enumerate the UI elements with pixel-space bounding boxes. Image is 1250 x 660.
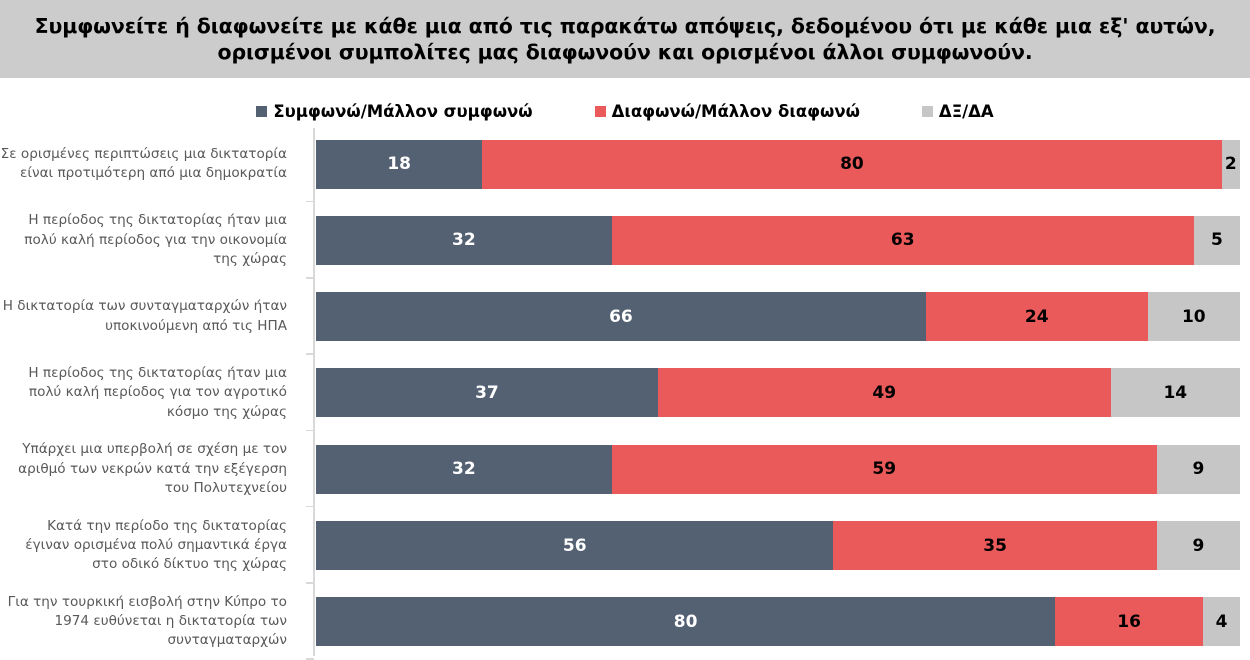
bar-segment-agree[interactable]: 56 bbox=[316, 521, 833, 570]
bar-segment-agree[interactable]: 37 bbox=[316, 368, 658, 417]
legend-label-agree: Συμφωνώ/Μάλλον συμφωνώ bbox=[273, 102, 532, 121]
bar-segment-dontknow[interactable]: 4 bbox=[1203, 597, 1240, 646]
legend-swatch-disagree-icon bbox=[595, 106, 606, 117]
bar-segment-agree[interactable]: 18 bbox=[316, 140, 482, 189]
bar-segment-dontknow[interactable]: 14 bbox=[1111, 368, 1240, 417]
page-title: Συμφωνείτε ή διαφωνείτε με κάθε μια από … bbox=[20, 13, 1230, 65]
category-label: Σε ορισμένες περιπτώσεις μια δικτατορία … bbox=[0, 145, 300, 184]
bar-segment-dontknow[interactable]: 9 bbox=[1157, 445, 1240, 494]
stacked-bar: 374914 bbox=[316, 368, 1240, 417]
legend-label-disagree: Διαφωνώ/Μάλλον διαφωνώ bbox=[612, 102, 860, 121]
bar-segment-disagree[interactable]: 16 bbox=[1055, 597, 1203, 646]
category-label: Κατά την περίοδο της δικτατορίας έγιναν … bbox=[0, 517, 300, 575]
stacked-bar: 32599 bbox=[316, 445, 1240, 494]
bar-segment-disagree[interactable]: 35 bbox=[833, 521, 1156, 570]
stacked-bar: 32635 bbox=[316, 216, 1240, 265]
legend-swatch-agree-icon bbox=[256, 106, 267, 117]
legend-item-disagree[interactable]: Διαφωνώ/Μάλλον διαφωνώ bbox=[595, 102, 860, 121]
bar-segment-agree[interactable]: 66 bbox=[316, 292, 926, 341]
bar-segment-agree[interactable]: 32 bbox=[316, 216, 612, 265]
bar-segment-dontknow[interactable]: 9 bbox=[1157, 521, 1240, 570]
bar-segment-disagree[interactable]: 49 bbox=[658, 368, 1111, 417]
chart-row: Η περίοδος της δικτατορίας ήταν μια πολύ… bbox=[0, 202, 1250, 278]
stacked-bar: 18802 bbox=[316, 140, 1240, 189]
legend-label-dontknow: ΔΞ/ΔΑ bbox=[939, 102, 994, 121]
stacked-bar: 662410 bbox=[316, 292, 1240, 341]
bar-segment-disagree[interactable]: 63 bbox=[612, 216, 1194, 265]
bar-segment-disagree[interactable]: 80 bbox=[482, 140, 1221, 189]
category-label: Για την τουρκική εισβολή στην Κύπρο το 1… bbox=[0, 593, 300, 651]
category-label: Υπάρχει μια υπερβολή σε σχέση με τον αρι… bbox=[0, 440, 300, 498]
chart-title-band: Συμφωνείτε ή διαφωνείτε με κάθε μια από … bbox=[0, 0, 1250, 78]
plot-area: Σε ορισμένες περιπτώσεις μια δικτατορία … bbox=[0, 126, 1250, 660]
bar-segment-disagree[interactable]: 24 bbox=[926, 292, 1148, 341]
stacked-bar-chart: Συμφωνείτε ή διαφωνείτε με κάθε μια από … bbox=[0, 0, 1250, 660]
legend-item-agree[interactable]: Συμφωνώ/Μάλλον συμφωνώ bbox=[256, 102, 532, 121]
legend-item-dontknow[interactable]: ΔΞ/ΔΑ bbox=[922, 102, 994, 121]
bar-segment-dontknow[interactable]: 5 bbox=[1194, 216, 1240, 265]
chart-row: Σε ορισμένες περιπτώσεις μια δικτατορία … bbox=[0, 126, 1250, 202]
category-label: Η περίοδος της δικτατορίας ήταν μια πολύ… bbox=[0, 211, 300, 269]
chart-row: Υπάρχει μια υπερβολή σε σχέση με τον αρι… bbox=[0, 431, 1250, 507]
chart-row: Κατά την περίοδο της δικτατορίας έγιναν … bbox=[0, 507, 1250, 583]
stacked-bar: 80164 bbox=[316, 597, 1240, 646]
bar-segment-dontknow[interactable]: 10 bbox=[1148, 292, 1240, 341]
legend-swatch-dontknow-icon bbox=[922, 106, 933, 117]
stacked-bar: 56359 bbox=[316, 521, 1240, 570]
bar-segment-agree[interactable]: 80 bbox=[316, 597, 1055, 646]
chart-row: Η περίοδος της δικτατορίας ήταν μια πολύ… bbox=[0, 355, 1250, 431]
bar-rows: Σε ορισμένες περιπτώσεις μια δικτατορία … bbox=[0, 126, 1250, 660]
chart-legend: Συμφωνώ/Μάλλον συμφωνώ Διαφωνώ/Μάλλον δι… bbox=[0, 96, 1250, 126]
bar-segment-disagree[interactable]: 59 bbox=[612, 445, 1157, 494]
chart-row: Η δικτατορία των συνταγματαρχών ήταν υπο… bbox=[0, 279, 1250, 355]
chart-row: Για την τουρκική εισβολή στην Κύπρο το 1… bbox=[0, 584, 1250, 660]
category-label: Η περίοδος της δικτατορίας ήταν μια πολύ… bbox=[0, 364, 300, 422]
bar-segment-dontknow[interactable]: 2 bbox=[1222, 140, 1240, 189]
category-label: Η δικτατορία των συνταγματαρχών ήταν υπο… bbox=[0, 297, 300, 336]
bar-segment-agree[interactable]: 32 bbox=[316, 445, 612, 494]
